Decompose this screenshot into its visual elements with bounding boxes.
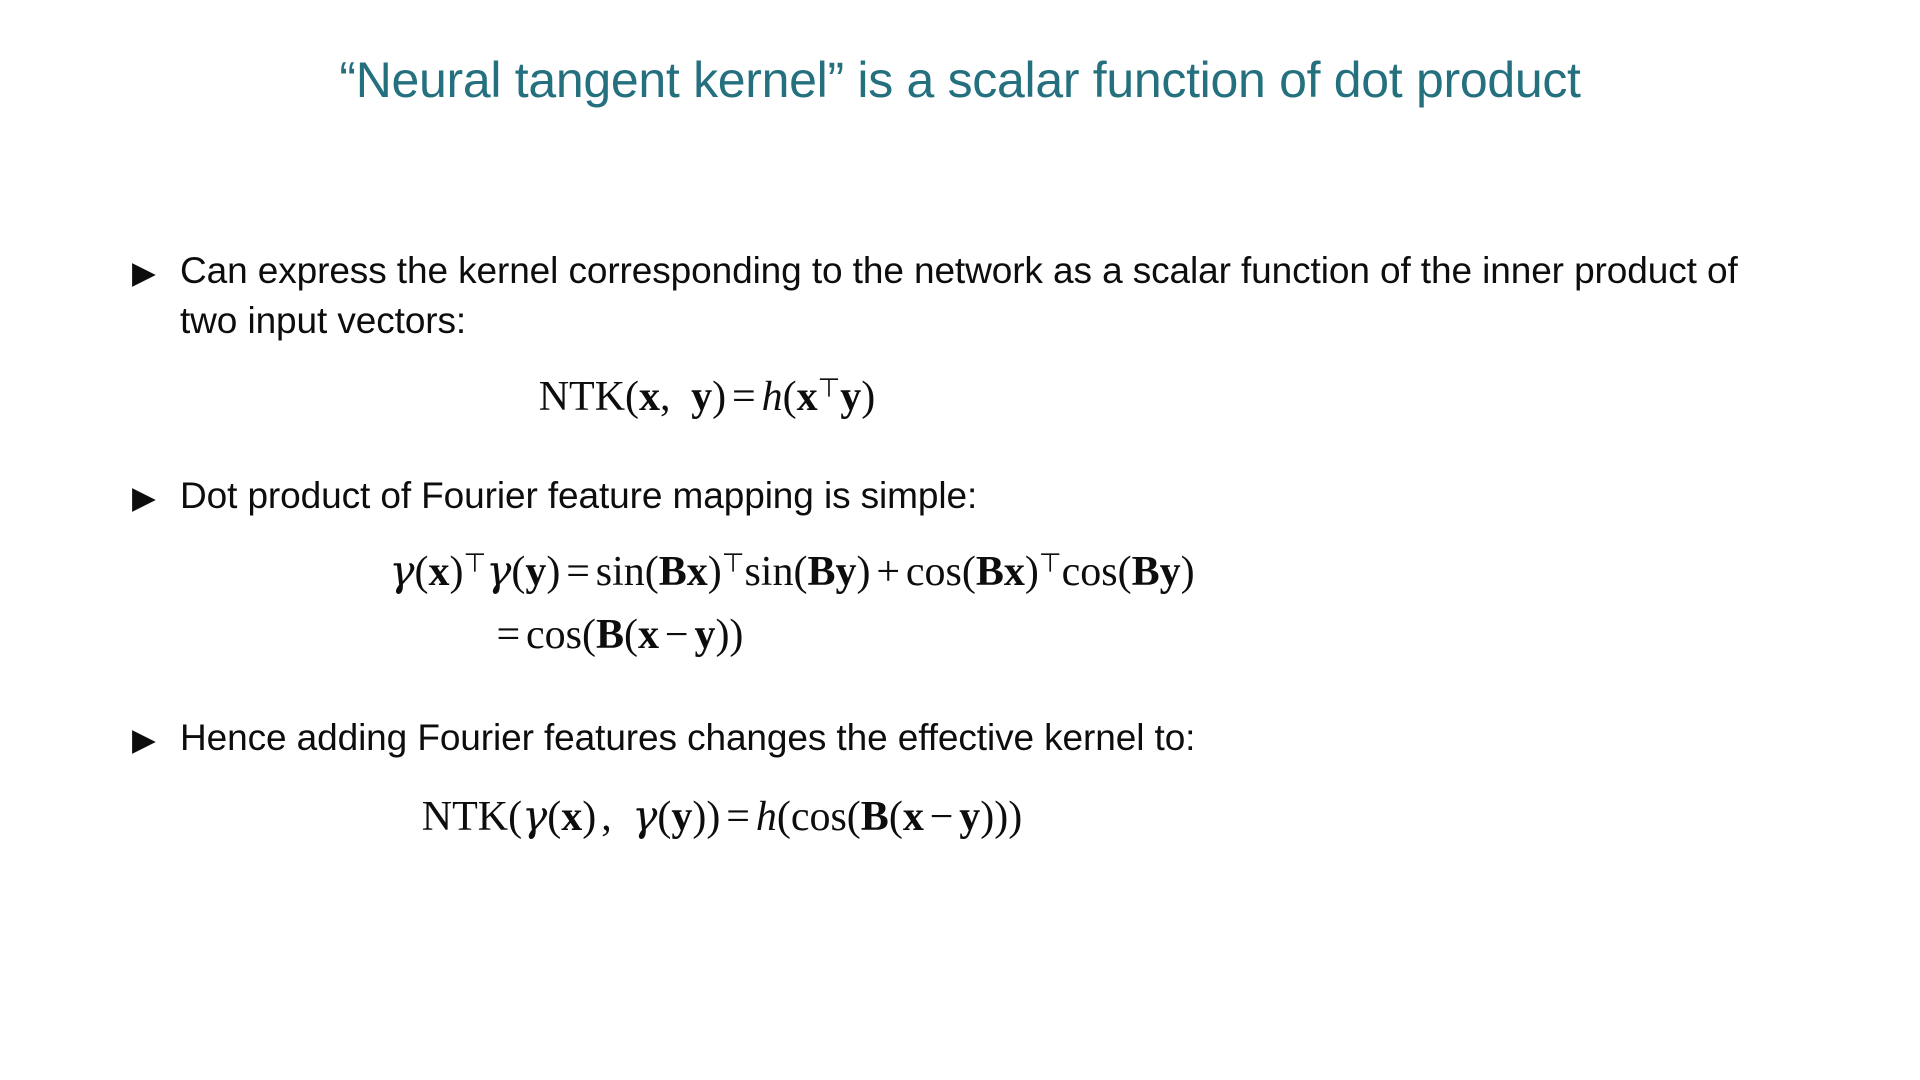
spacer-2 [132, 661, 1812, 713]
equation-4-rparens: ))) [980, 794, 1022, 840]
equation-1-rparen: ) [712, 374, 726, 420]
equation-2-transpose-icon: ⊤ [464, 549, 487, 579]
equation-effective-kernel: NTK(γ(x), γ(y))=h(cos(B(x−y))) [132, 790, 1812, 844]
equation-4-function-h: h [756, 794, 777, 840]
equation-4-gamma-x: γ [522, 791, 547, 840]
equation-3-lp: ( [624, 612, 638, 658]
equation-4-vector-y: y [671, 794, 692, 840]
bullet-triangle-icon: ▶ [132, 713, 180, 765]
equation-2-rp6: ) [1181, 549, 1195, 595]
equation-4-ntk-symbol: NTK( [422, 794, 522, 840]
equation-3-vector-x: x [638, 612, 659, 658]
equation-2-rp2: ) [546, 549, 560, 595]
equation-3-cos: cos( [526, 612, 596, 658]
bullet-item-3: ▶ Hence adding Fourier features changes … [132, 713, 1812, 765]
equation-1-transpose-icon: ⊤ [818, 373, 841, 403]
equation-2-rp5: ) [1025, 549, 1039, 595]
equation-1-lparen: ( [625, 374, 639, 420]
equation-3-matrix-B: B [596, 612, 624, 658]
equation-2-equals: = [560, 549, 595, 595]
equation-2-transpose-icon-2: ⊤ [722, 549, 745, 579]
equation-4-equals: = [720, 794, 755, 840]
equation-4-rhs-vector-x: x [903, 794, 924, 840]
equation-3-vector-y: y [694, 612, 715, 658]
equation-4-lp1: ( [547, 794, 561, 840]
equation-fourier-dot-product-line2: =cos(B(x−y)) [132, 609, 1812, 662]
equation-4-vector-x: x [561, 794, 582, 840]
slide: “Neural tangent kernel” is a scalar func… [0, 0, 1920, 1080]
equation-2-transpose-icon-3: ⊤ [1039, 549, 1062, 579]
equation-2-sin-2: sin( [744, 549, 807, 595]
equation-2-lp1: ( [415, 549, 429, 595]
bullet-item-2: ▶ Dot product of Fourier feature mapping… [132, 471, 1812, 523]
equation-4-lp3: ( [889, 794, 903, 840]
equation-1-equals: = [726, 374, 761, 420]
equation-2-gamma-y: γ [486, 546, 511, 595]
spacer-1 [132, 423, 1812, 471]
equation-2-rp4: ) [856, 549, 870, 595]
slide-title: “Neural tangent kernel” is a scalar func… [0, 52, 1920, 108]
slide-body: ▶ Can express the kernel corresponding t… [132, 246, 1812, 843]
equation-2-matrix-B-2: By [807, 549, 856, 595]
equation-2-vector-x: x [429, 549, 450, 595]
equation-4-cos: (cos( [777, 794, 861, 840]
bullet-triangle-icon: ▶ [132, 246, 180, 298]
equation-2-sin-1: sin( [596, 549, 659, 595]
equation-2-gamma-x: γ [389, 546, 414, 595]
equation-2-matrix-B-4: By [1132, 549, 1181, 595]
equation-2-matrix-B-3: Bx [976, 549, 1025, 595]
equation-4-matrix-B: B [861, 794, 889, 840]
equation-1-vector-y: y [691, 374, 712, 420]
equation-3-rparens: )) [715, 612, 743, 658]
equation-1-ntk-symbol: NTK [539, 374, 625, 420]
equation-1-vector-x: x [639, 374, 660, 420]
equation-2-rp3: ) [708, 549, 722, 595]
bullet-triangle-icon: ▶ [132, 471, 180, 523]
equation-2-matrix-B-1: Bx [659, 549, 708, 595]
bullet-item-3-label: Hence adding Fourier features changes th… [180, 713, 1760, 763]
equation-1-rhs-vector-y: y [840, 374, 861, 420]
equation-2-lp2: ( [511, 549, 525, 595]
equation-fourier-dot-product-line1: γ(x)⊤γ(y)=sin(Bx)⊤sin(By)+cos(Bx)⊤cos(By… [132, 545, 1812, 599]
equation-3-equals: = [491, 612, 526, 658]
bullet-item-2-label: Dot product of Fourier feature mapping i… [180, 471, 1760, 521]
equation-4-gamma-y: γ [632, 791, 657, 840]
equation-2-cos-2: cos( [1062, 549, 1132, 595]
equation-1-rhs-rparen: ) [861, 374, 875, 420]
equation-1-comma: , [660, 374, 691, 420]
equation-1-rhs-vector-x: x [797, 374, 818, 420]
equation-1-rhs-lparen: ( [783, 374, 797, 420]
bullet-item-1: ▶ Can express the kernel corresponding t… [132, 246, 1812, 347]
equation-ntk-definition: NTK(x, y)=h(x⊤y) [132, 371, 1812, 424]
equation-3-minus: − [659, 612, 694, 658]
equation-4-minus: − [924, 794, 959, 840]
equation-1-function-h: h [762, 374, 783, 420]
equation-4-rhs-vector-y: y [959, 794, 980, 840]
equation-4-lp2: ( [657, 794, 671, 840]
equation-4-rp1: )) [692, 794, 720, 840]
equation-2-vector-y: y [525, 549, 546, 595]
equation-4-comma: ), [582, 794, 632, 840]
bullet-item-1-label: Can express the kernel corresponding to … [180, 246, 1760, 347]
equation-2-cos-1: cos( [906, 549, 976, 595]
equation-2-plus: + [870, 549, 905, 595]
equation-2-rp1: ) [450, 549, 464, 595]
